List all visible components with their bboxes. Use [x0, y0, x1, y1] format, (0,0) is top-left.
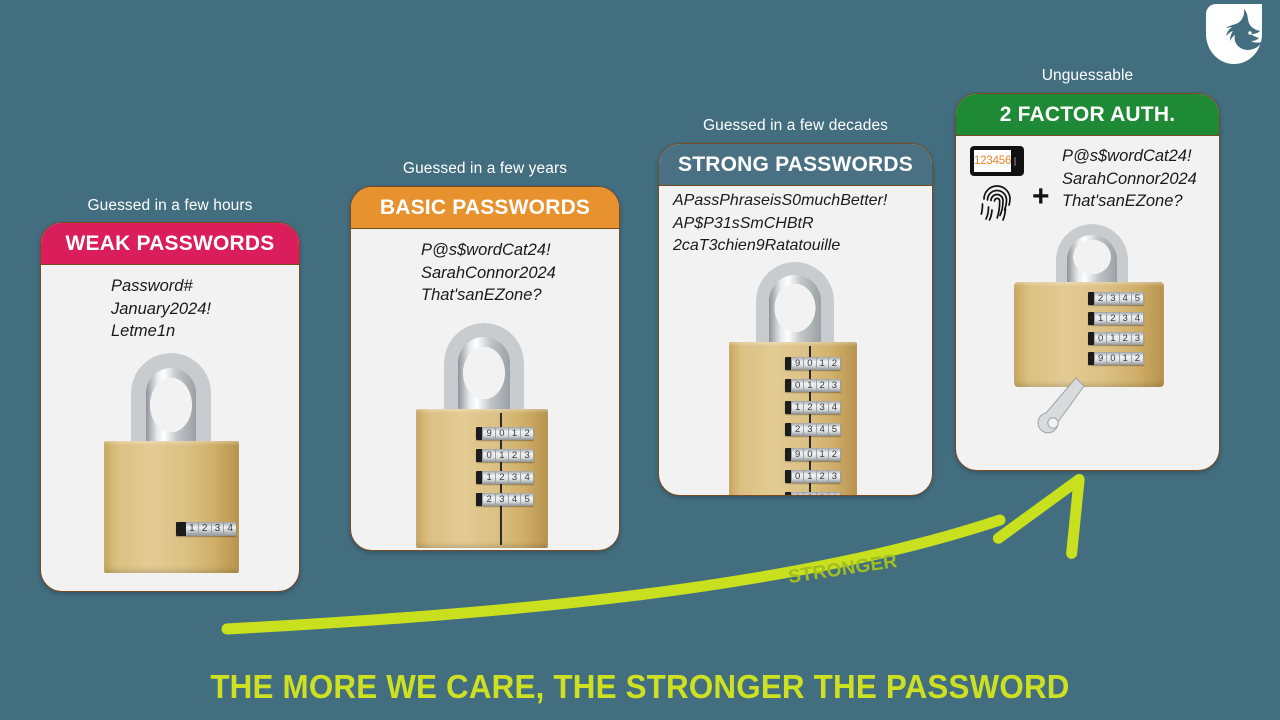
combination-dial-row: 90 12 — [476, 427, 534, 440]
fingerprint-icon — [980, 182, 1014, 222]
otp-code: 123456 — [974, 155, 1011, 167]
shackle-icon — [1056, 224, 1128, 290]
combination-dial-row: 12 34 — [476, 471, 534, 484]
password-item: P@s$wordCat24! — [1062, 145, 1197, 168]
padlock-basic: 90 12 01 23 12 34 23 45 — [406, 323, 561, 548]
padlock-body — [104, 441, 239, 573]
password-item: That'sanEZone? — [421, 284, 619, 307]
password-item: APassPhraseisS0muchBetter! — [673, 190, 932, 213]
password-item: SarahConnor2024 — [421, 262, 619, 285]
shackle-icon — [444, 323, 524, 423]
shackle-icon — [756, 262, 834, 354]
caption-basic: Guessed in a few years — [350, 160, 620, 178]
padlock-weak: 1 2 3 4 — [96, 353, 246, 573]
combination-dial-row: 1234 — [785, 492, 841, 496]
key-icon — [1036, 376, 1106, 451]
combination-dial-row: 1234 — [785, 401, 841, 414]
password-list-basic: P@s$wordCat24! SarahConnor2024 That'sanE… — [351, 229, 619, 307]
password-item: 2caT3chien9Ratatouille — [673, 235, 932, 258]
password-item: That'sanEZone? — [1062, 190, 1197, 213]
password-list-weak: Password# January2024! Letme1n — [41, 265, 299, 343]
padlock-strong: 9012 0123 1234 2345 9012 0123 1234 2345 — [717, 262, 872, 496]
combination-dial-row: 9012 — [1088, 352, 1144, 365]
password-item: AP$P31sSmCHBtR — [673, 213, 932, 236]
caption-weak: Guessed in a few hours — [40, 197, 300, 215]
combination-dial-row: 1 2 3 4 — [176, 522, 236, 536]
combination-dial-row: 2345 — [1088, 292, 1144, 305]
card-two-factor-auth[interactable]: 2 FACTOR AUTH. 123456 — [955, 93, 1220, 471]
stronger-label: STRONGER — [787, 551, 899, 589]
password-item: Letme1n — [111, 320, 299, 343]
card-header-basic: BASIC PASSWORDS — [351, 187, 619, 229]
caption-strong: Guessed in a few decades — [658, 117, 933, 135]
combination-dial-row: 0123 — [1088, 332, 1144, 345]
combination-dial-row: 0123 — [785, 379, 841, 392]
card-header-strong: STRONG PASSWORDS — [659, 144, 932, 186]
password-item: SarahConnor2024 — [1062, 168, 1197, 191]
password-item: January2024! — [111, 298, 299, 321]
card-body-2fa: 123456 + P@s$wordCat24! — [956, 136, 1219, 470]
combination-dial-row: 23 45 — [476, 493, 534, 506]
card-header-weak: WEAK PASSWORDS — [41, 223, 299, 265]
otp-token-device[interactable]: 123456 — [970, 146, 1024, 176]
combination-dial-row: 1234 — [1088, 312, 1144, 325]
card-body-weak: Password# January2024! Letme1n 1 2 3 4 — [41, 265, 299, 591]
dragon-head-logo — [1206, 2, 1272, 66]
page-title: THE MORE WE CARE, THE STRONGER THE PASSW… — [32, 668, 1248, 706]
card-body-strong: APassPhraseisS0muchBetter! AP$P31sSmCHBt… — [659, 186, 932, 495]
padlock-2fa-with-key: 2345 1234 0123 9012 — [996, 224, 1181, 454]
combination-dial-row: 9012 — [785, 448, 841, 461]
password-list-strong: APassPhraseisS0muchBetter! AP$P31sSmCHBt… — [659, 186, 932, 258]
password-list-2fa: P@s$wordCat24! SarahConnor2024 That'sanE… — [1062, 145, 1197, 213]
password-item: Password# — [111, 275, 299, 298]
password-item: P@s$wordCat24! — [421, 239, 619, 262]
combination-dial-row: 2345 — [785, 423, 841, 436]
combination-dial-row: 9012 — [785, 357, 841, 370]
card-header-2fa: 2 FACTOR AUTH. — [956, 94, 1219, 136]
plus-icon: + — [1032, 182, 1050, 212]
token-button[interactable] — [1014, 157, 1016, 166]
combination-dial-row: 01 23 — [476, 449, 534, 462]
card-strong-passwords[interactable]: STRONG PASSWORDS APassPhraseisS0muchBett… — [658, 143, 933, 496]
token-screen: 123456 — [974, 150, 1011, 172]
combination-dial-row: 0123 — [785, 470, 841, 483]
card-basic-passwords[interactable]: BASIC PASSWORDS P@s$wordCat24! SarahConn… — [350, 186, 620, 551]
card-weak-passwords[interactable]: WEAK PASSWORDS Password# January2024! Le… — [40, 222, 300, 592]
card-body-basic: P@s$wordCat24! SarahConnor2024 That'sanE… — [351, 229, 619, 550]
caption-2fa: Unguessable — [955, 67, 1220, 85]
